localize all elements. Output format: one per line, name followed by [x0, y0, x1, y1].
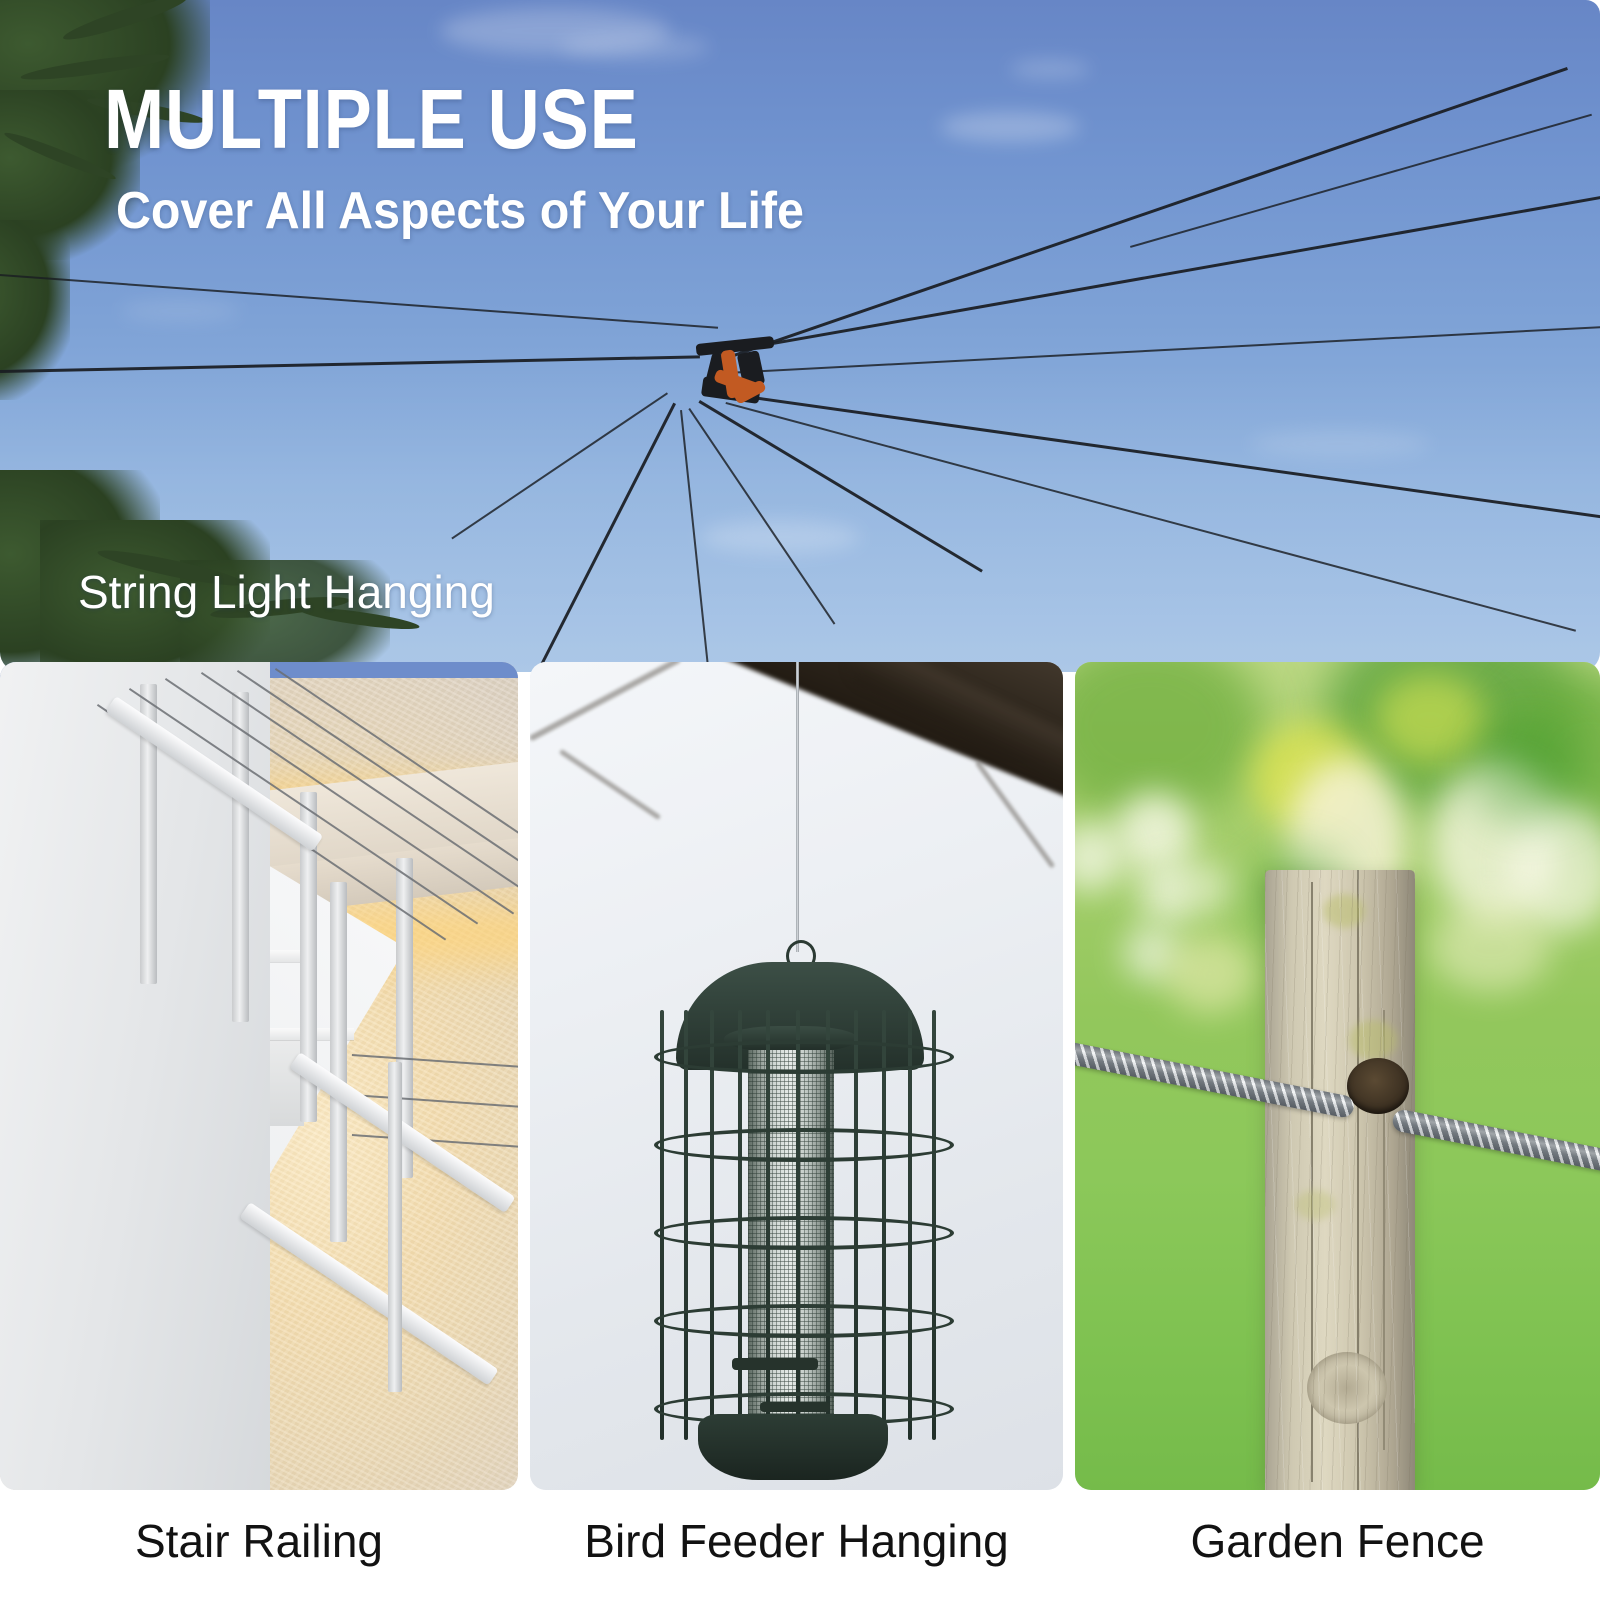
panel-caption-stair-railing: Stair Railing — [0, 1496, 518, 1586]
wooden-fence-post — [1265, 870, 1415, 1490]
cloud — [940, 112, 1080, 142]
product-feature-image: MULTIPLE USE Cover All Aspects of Your L… — [0, 0, 1600, 1600]
banner-overlay-caption: String Light Hanging — [78, 566, 495, 618]
feeder-cage — [654, 1010, 946, 1440]
panel-garden-fence — [1075, 662, 1600, 1490]
cloud — [1250, 430, 1430, 458]
cloud — [1010, 60, 1090, 78]
panel-bird-feeder — [530, 662, 1063, 1490]
feeder-perch — [732, 1358, 818, 1370]
hero-banner-string-lights: MULTIPLE USE Cover All Aspects of Your L… — [0, 0, 1600, 672]
panel-stair-railing — [0, 662, 518, 1490]
feeder-base — [698, 1414, 888, 1480]
feeder-perch — [760, 1402, 830, 1412]
page-title: MULTIPLE USE — [104, 76, 639, 162]
page-subtitle: Cover All Aspects of Your Life — [116, 182, 804, 240]
panel-caption-bird-feeder: Bird Feeder Hanging — [530, 1496, 1063, 1586]
cloud — [700, 520, 860, 554]
caged-bird-feeder — [640, 962, 960, 1482]
hanging-wire — [796, 662, 799, 952]
cable-hub-connector — [690, 336, 780, 412]
cloud — [120, 300, 240, 322]
drilled-hole — [1347, 1058, 1409, 1114]
use-case-panels: Stair Railing Bird Feeder Hanging Garden… — [0, 662, 1600, 1600]
cloud — [560, 34, 710, 60]
panel-caption-garden-fence: Garden Fence — [1075, 1496, 1600, 1586]
